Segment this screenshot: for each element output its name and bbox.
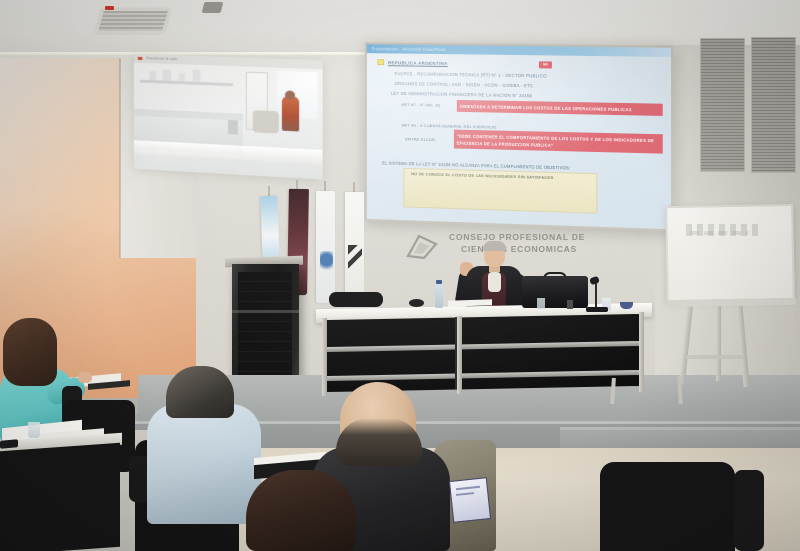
head-table-leg	[322, 318, 327, 396]
microphone-base	[586, 307, 608, 312]
video-shelf-item	[179, 73, 185, 81]
attendee-man-blue-shirt-body	[147, 404, 261, 524]
video-shelf-item	[193, 70, 201, 82]
presenter-shirt	[488, 272, 501, 292]
vent-indicator-light	[105, 6, 114, 10]
venue-logo-line-2: CIENCIAS ECONOMICAS	[461, 244, 577, 254]
institutional-flag-blue-emblem	[316, 191, 335, 303]
attendee-man-balding-hair	[336, 418, 422, 466]
cpce-logo-icon	[405, 234, 439, 260]
water-bottle-cap	[436, 280, 442, 284]
easel-leg	[716, 303, 721, 381]
pillar-edge	[119, 58, 121, 258]
microphone-stem	[595, 282, 597, 308]
attendee-desk-glass	[28, 422, 40, 438]
video-shelf-item	[149, 71, 156, 80]
lectern-trim	[232, 310, 299, 313]
head-table-leg	[457, 316, 462, 394]
attendee-desk-phone	[0, 439, 18, 449]
attendee-desk-body	[0, 443, 120, 551]
secondary-projection-screen: Reproductor de video	[134, 54, 323, 180]
blue-cup	[620, 302, 633, 309]
conference-room-photo: Reproductor de video Presentacion - Micr…	[0, 0, 800, 551]
laptop-bag	[522, 276, 588, 308]
lectern-front-panel	[238, 272, 292, 380]
whiteboard-writing	[690, 231, 748, 235]
wall-louver-grille-left-icon	[700, 38, 745, 172]
easel-crossbar	[686, 355, 744, 359]
flag-blue-emblem-icon	[320, 251, 333, 273]
powerpoint-slide: Presentacion - Microsoft PowerPoint REPU…	[367, 44, 671, 229]
audience-chair-arm	[734, 470, 764, 551]
video-bin	[228, 120, 238, 134]
attendee-tablet	[449, 477, 491, 523]
flag-cpce-emblem-icon	[348, 245, 362, 269]
wall-louver-grille-right-icon	[751, 37, 796, 173]
video-person-body	[282, 96, 299, 131]
video-chair	[253, 110, 279, 133]
attendee-man-blue-hair	[166, 366, 234, 418]
attendee-woman-teal-hand	[78, 372, 92, 383]
head-table-leg	[639, 312, 644, 392]
head-table-front-panel	[322, 314, 644, 392]
attendee-woman-teal-hair	[3, 318, 57, 386]
video-person-head	[285, 90, 295, 100]
main-projection-screen: Presentacion - Microsoft PowerPoint REPU…	[365, 42, 673, 231]
presenter-hair	[483, 241, 506, 251]
ceiling-air-vent-icon	[96, 9, 171, 33]
whiteboard-flipchart	[665, 204, 795, 302]
ceiling-speaker-icon	[202, 2, 224, 13]
table-chair-back	[329, 292, 383, 307]
attendee-woman-dark-hair	[246, 470, 356, 551]
projector-glare	[367, 44, 671, 229]
water-bottle	[435, 283, 443, 308]
video-record-dot-icon	[138, 57, 143, 60]
audience-chair	[600, 462, 735, 551]
desk-item-disc	[409, 299, 424, 307]
venue-logo-line-1: CONSEJO PROFESIONAL DE	[449, 232, 585, 242]
video-shelf-item	[163, 70, 172, 81]
drinking-glass	[537, 298, 545, 309]
desk-small-object	[567, 300, 573, 309]
